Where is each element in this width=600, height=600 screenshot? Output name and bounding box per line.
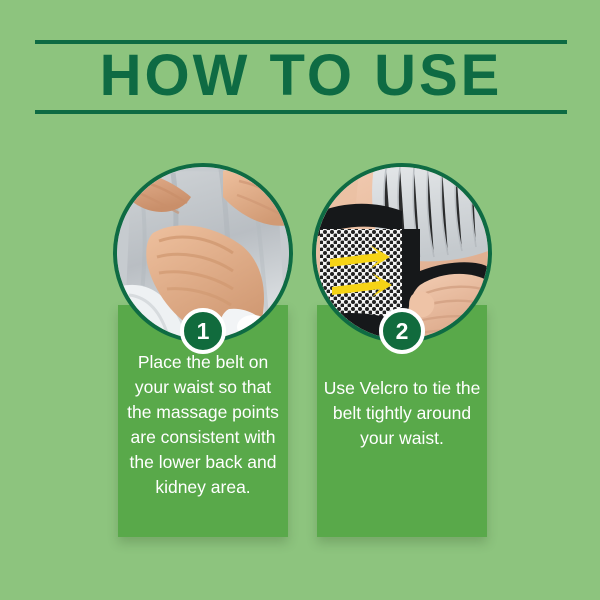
step-card-1: 1 Place the belt on your waist so that t… — [118, 150, 288, 540]
step-number-badge-2: 2 — [379, 308, 425, 354]
step-caption-2: Use Velcro to tie the belt tightly aroun… — [323, 376, 481, 451]
poster-header: HOW TO USE — [35, 40, 567, 118]
title-rule-bottom — [35, 110, 567, 114]
step-card-2: 2 Use Velcro to tie the belt tightly aro… — [317, 150, 487, 540]
steps-container: 1 Place the belt on your waist so that t… — [0, 150, 600, 550]
step-caption-1: Place the belt on your waist so that the… — [124, 350, 282, 500]
how-to-use-poster: HOW TO USE — [0, 0, 600, 600]
step-number-badge-1: 1 — [180, 308, 226, 354]
page-title: HOW TO USE — [35, 42, 567, 110]
